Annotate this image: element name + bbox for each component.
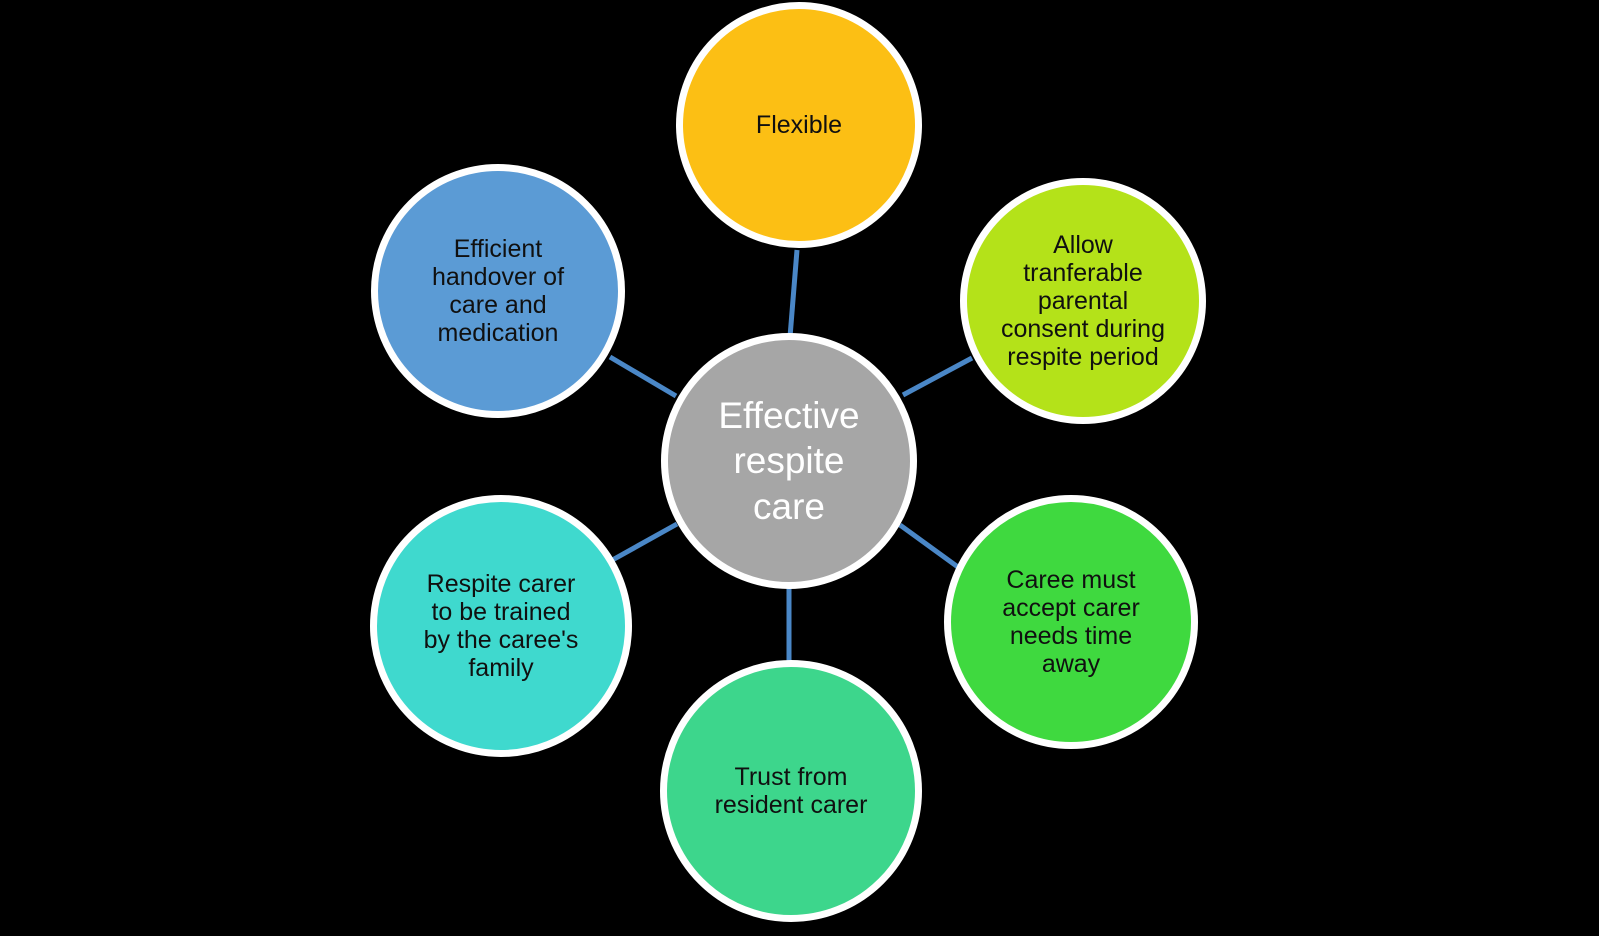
node-label-center: Effective respite care [712,393,865,528]
node-transferable-consent[interactable]: Allow tranferable parental consent durin… [960,178,1206,424]
connector-center-to-flexible [790,250,797,337]
connector-center-to-handover [610,357,676,396]
diagram-canvas: Efficient handover of care and medicatio… [0,0,1599,936]
connector-center-to-consent [903,358,972,395]
node-label-handover: Efficient handover of care and medicatio… [426,235,570,347]
node-effective-respite-care[interactable]: Effective respite care [661,333,917,589]
node-caree-accept-time-away[interactable]: Caree must accept carer needs time away [944,495,1198,749]
node-label-timeaway: Caree must accept carer needs time away [996,566,1146,678]
node-respite-carer-training[interactable]: Respite carer to be trained by the caree… [370,495,632,757]
node-label-consent: Allow tranferable parental consent durin… [995,231,1171,371]
node-flexible[interactable]: Flexible [676,2,922,248]
node-trust-resident-carer[interactable]: Trust from resident carer [660,660,922,922]
node-label-trust: Trust from resident carer [709,763,874,819]
node-label-training: Respite carer to be trained by the caree… [418,570,585,682]
node-efficient-handover[interactable]: Efficient handover of care and medicatio… [371,164,625,418]
node-label-flexible: Flexible [750,111,848,139]
connector-center-to-training [607,524,677,563]
connector-center-to-timeaway [900,525,962,570]
